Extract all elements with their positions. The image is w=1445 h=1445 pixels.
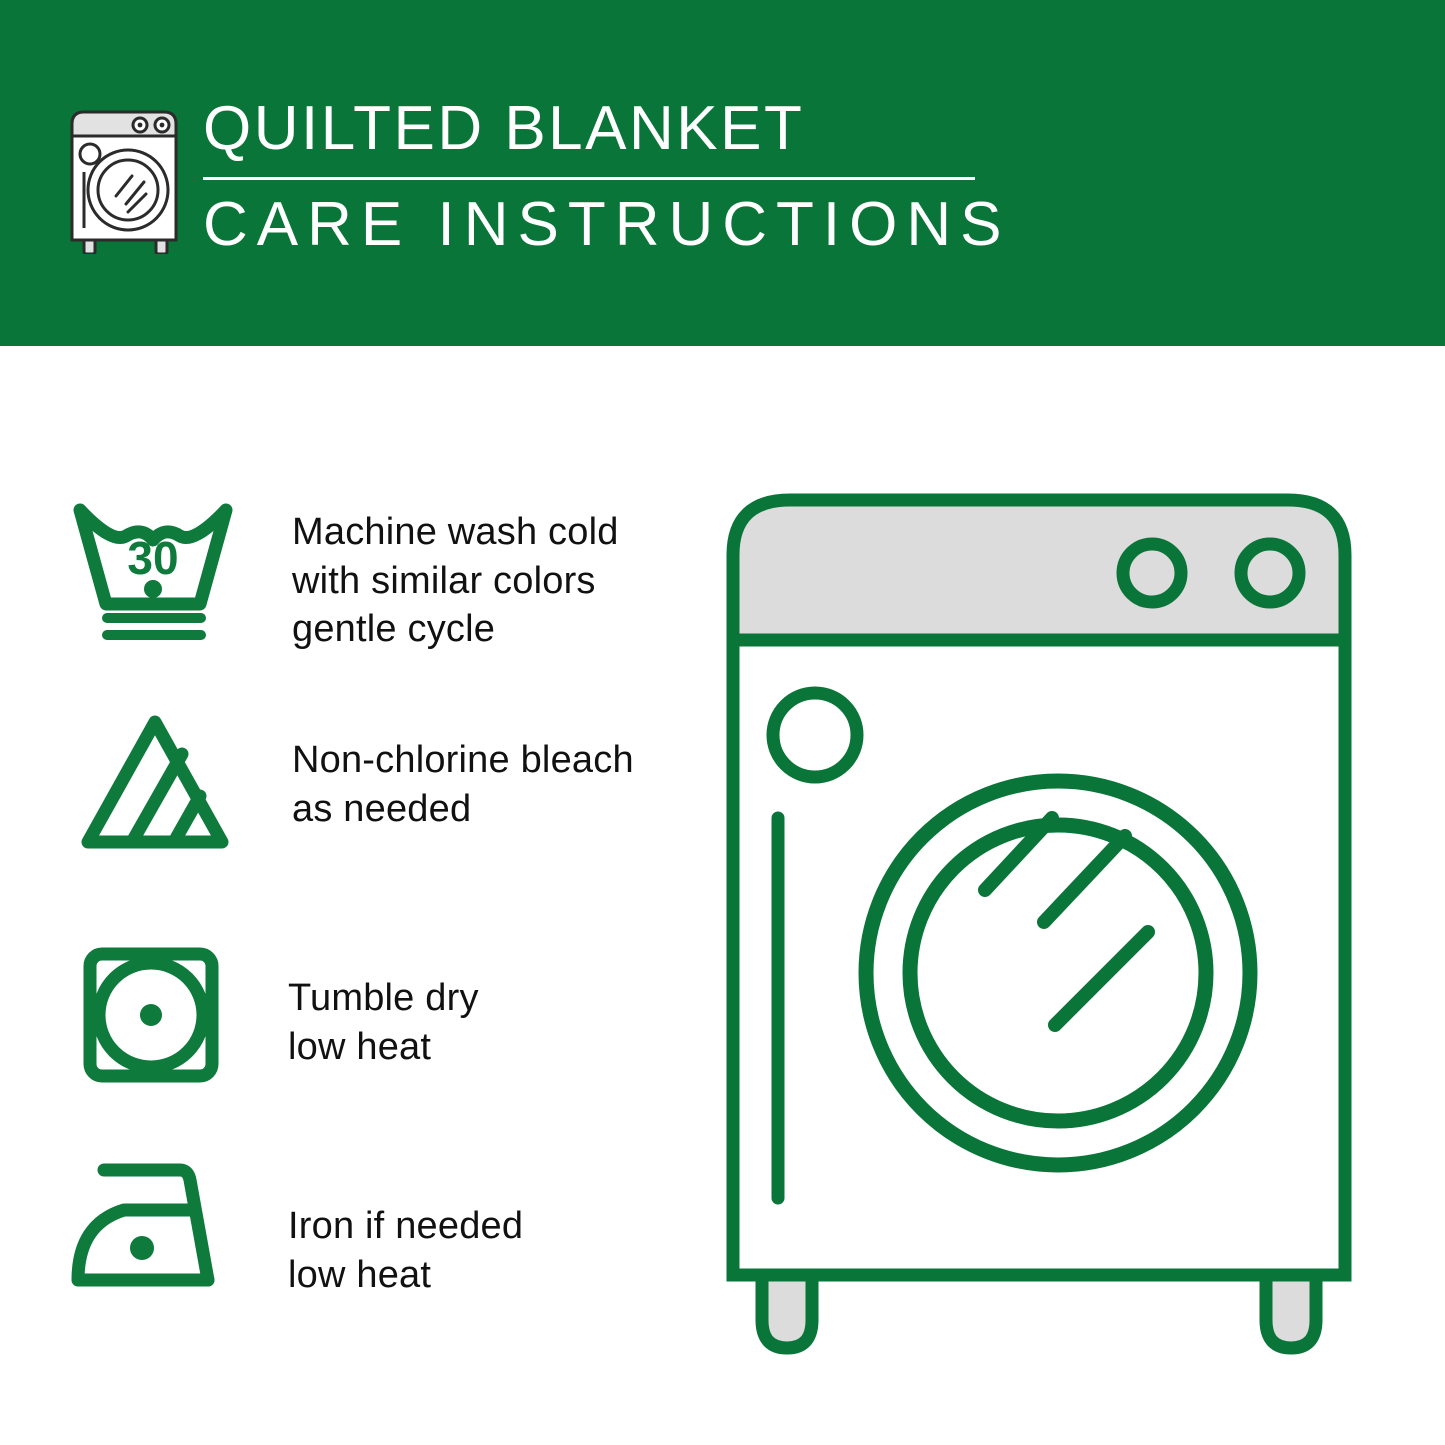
list-item: Iron if needed low heat — [0, 1036, 700, 1266]
knob-right-icon — [1241, 544, 1299, 602]
leg-left — [762, 1275, 812, 1348]
header-text-block: QUILTED BLANKET CARE INSTRUCTIONS — [203, 96, 993, 259]
leg-right — [1266, 1275, 1316, 1348]
list-item: 30 Machine wash cold with similar colors… — [0, 346, 700, 576]
care-instruction-list: 30 Machine wash cold with similar colors… — [0, 346, 700, 1445]
washing-machine-icon — [66, 106, 188, 254]
indicator-button-icon — [773, 693, 857, 777]
washing-machine-illustration — [700, 440, 1400, 1380]
iron-icon — [62, 1156, 242, 1301]
knob-left-icon — [1123, 544, 1181, 602]
list-item: Tumble dry low heat — [0, 806, 700, 1036]
title-divider — [203, 177, 975, 180]
list-item-label: Iron if needed low heat — [288, 1202, 678, 1299]
door-inner-ring — [910, 825, 1206, 1121]
header-banner: QUILTED BLANKET CARE INSTRUCTIONS — [0, 0, 1445, 346]
list-item: Non-chlorine bleach as needed — [0, 576, 700, 806]
page-title: QUILTED BLANKET — [203, 96, 993, 163]
care-instructions-page: QUILTED BLANKET CARE INSTRUCTIONS 30 Mac… — [0, 0, 1445, 1445]
page-subtitle: CARE INSTRUCTIONS — [203, 192, 993, 259]
